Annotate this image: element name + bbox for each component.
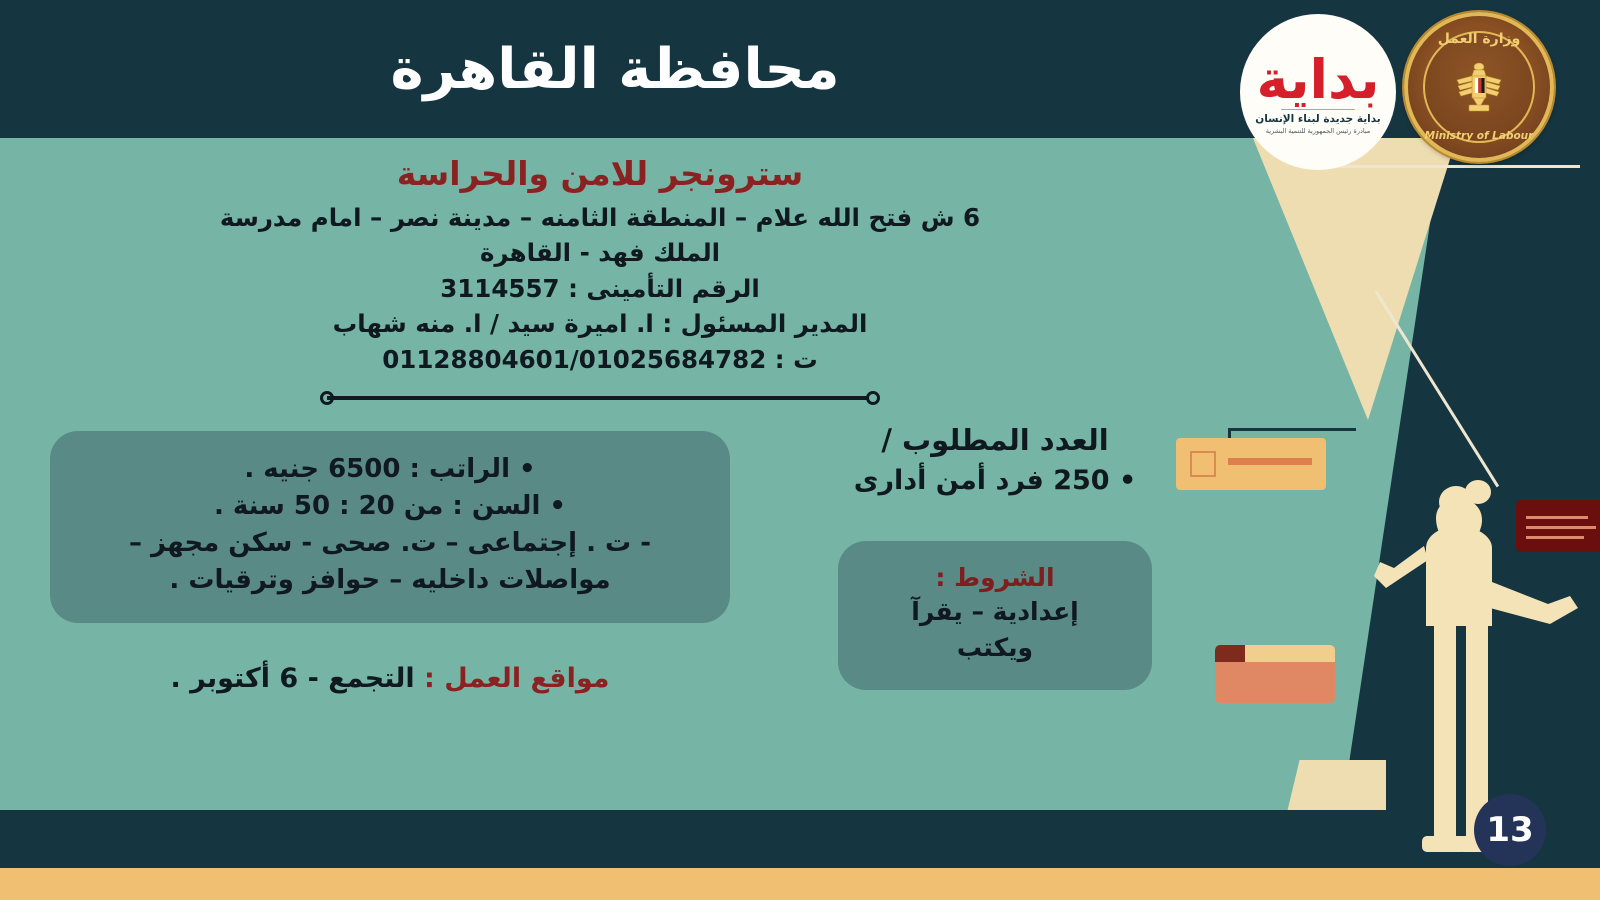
benefits-list: • الراتب : 6500 جنيه . • السن : من 20 : … xyxy=(80,451,700,599)
divider-line xyxy=(327,396,873,400)
conditions-line-1: إعدادية – يقرآ xyxy=(854,596,1136,628)
company-address-line-2: الملك فهد - القاهرة xyxy=(0,235,1200,271)
ministry-of-labour-seal: وزارة العمل xyxy=(1404,12,1554,162)
company-name: سترونجر للامن والحراسة xyxy=(0,154,1200,194)
bedaya-tagline: بداية جديدة لبناء الإنسان xyxy=(1255,113,1381,125)
ministry-english-label: Ministry of Labour xyxy=(1425,130,1534,142)
card-bar-icon xyxy=(1228,458,1312,465)
benefit-item-age: • السن : من 20 : 50 سنة . xyxy=(80,488,700,525)
maroon-line-2 xyxy=(1526,526,1596,529)
required-count-label: العدد المطلوب / xyxy=(830,423,1160,457)
divider-dot-end xyxy=(866,391,880,405)
company-insurance-number: الرقم التأمينى : 3114557 xyxy=(0,271,1200,307)
bedaya-divider xyxy=(1281,109,1355,110)
page-title: محافظة القاهرة xyxy=(0,0,1230,138)
work-locations: مواقع العمل : التجمع - 6 أكتوبر . xyxy=(50,663,730,694)
footer-gold-band xyxy=(0,868,1600,900)
bedaya-logo: بداية بداية جديدة لبناء الإنسان مبادرة ر… xyxy=(1240,14,1396,170)
slide-root: محافظة القاهرة بداية بداية جديدة لبناء ا… xyxy=(0,0,1600,900)
eagle-of-saladin-icon xyxy=(1453,59,1505,115)
benefits-column: • الراتب : 6500 جنيه . • السن : من 20 : … xyxy=(50,431,730,694)
conditions-box: الشروط : إعدادية – يقرآ ويكتب xyxy=(838,541,1152,690)
work-locations-label: مواقع العمل : xyxy=(415,663,610,694)
coral-card-speck xyxy=(1215,645,1245,662)
company-manager: المدير المسئول : ا. اميرة سيد / ا. منه ش… xyxy=(0,306,1200,342)
bedaya-mark-text: بداية xyxy=(1257,55,1380,105)
seal-inner-ring: وزارة العمل xyxy=(1423,31,1535,143)
main-content: سترونجر للامن والحراسة 6 ش فتح الله علام… xyxy=(0,138,1200,798)
content-columns: العدد المطلوب / • 250 فرد أمن أدارى الشر… xyxy=(0,423,1200,753)
company-details: 6 ش فتح الله علام – المنطقة الثامنه – مد… xyxy=(0,200,1200,378)
company-phone: ت : 01128804601/01025684782 xyxy=(0,342,1200,378)
maroon-line-3 xyxy=(1526,536,1584,539)
conditions-title: الشروط : xyxy=(854,563,1136,592)
benefit-item-extras: - ت . إجتماعى – ت. صحى - سكن مجهز – مواص… xyxy=(80,525,700,599)
required-count-value: • 250 فرد أمن أدارى xyxy=(830,465,1160,496)
conditions-line-2: ويكتب xyxy=(854,632,1136,664)
ministry-arabic-label: وزارة العمل xyxy=(1438,31,1521,47)
benefits-box: • الراتب : 6500 جنيه . • السن : من 20 : … xyxy=(50,431,730,623)
maroon-card-decor xyxy=(1516,500,1600,552)
accent-line-2 xyxy=(1330,165,1580,168)
benefit-item-salary: • الراتب : 6500 جنيه . xyxy=(80,451,700,488)
work-locations-value: التجمع - 6 أكتوبر . xyxy=(171,663,415,694)
company-address-line-1: 6 ش فتح الله علام – المنطقة الثامنه – مد… xyxy=(0,200,1200,236)
requirements-column: العدد المطلوب / • 250 فرد أمن أدارى الشر… xyxy=(830,423,1160,690)
page-number-badge: 13 xyxy=(1474,794,1546,866)
section-divider xyxy=(320,391,880,405)
coral-card-decor xyxy=(1215,645,1335,703)
maroon-line-1 xyxy=(1526,516,1588,519)
bedaya-subtitle: مبادرة رئيس الجمهورية للتنمية البشرية xyxy=(1266,127,1371,135)
